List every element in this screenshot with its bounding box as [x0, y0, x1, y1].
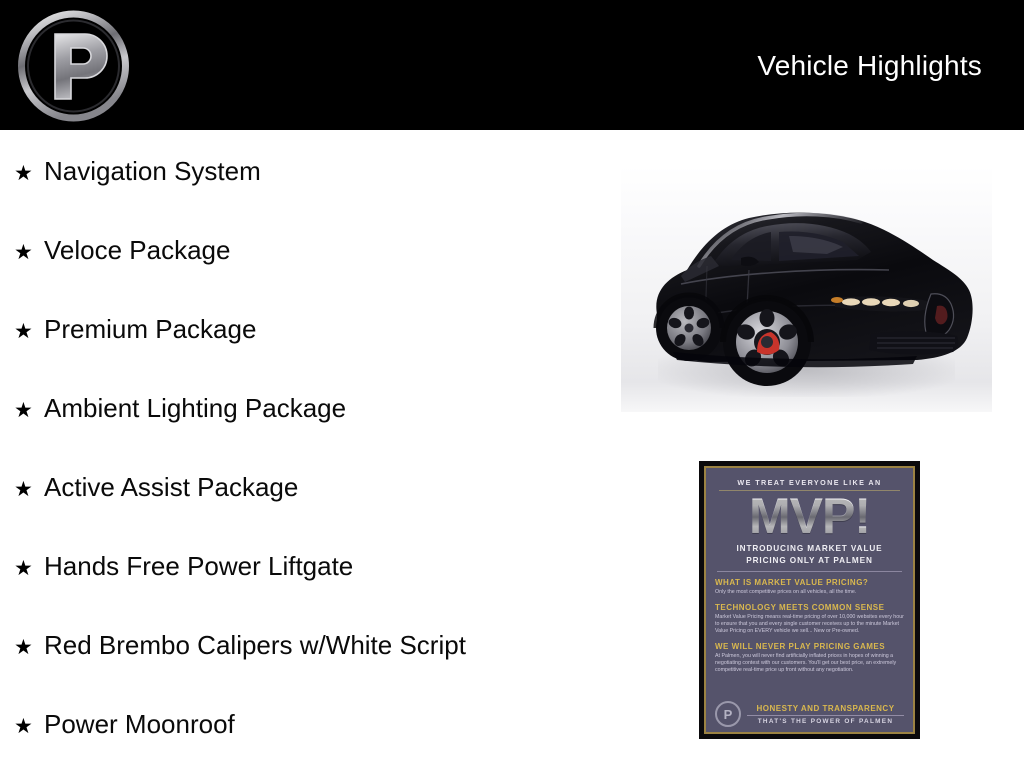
vehicle-highlights-list: ★ Navigation System ★ Veloce Package ★ P…: [0, 130, 600, 768]
star-bullet-icon: ★: [14, 321, 44, 342]
vehicle-photo: [621, 166, 992, 412]
star-bullet-icon: ★: [14, 479, 44, 500]
mvp-kicker: WE TREAT EVERYONE LIKE AN: [715, 478, 904, 487]
mvp-section-heading: TECHNOLOGY MEETS COMMON SENSE: [715, 603, 904, 612]
feature-label: Ambient Lighting Package: [44, 395, 346, 421]
mvp-subtitle-line2: PRICING ONLY AT PALMEN: [715, 555, 904, 566]
palmen-p-circle-logo: P: [715, 701, 741, 727]
star-bullet-icon: ★: [14, 163, 44, 184]
page-header: Vehicle Highlights: [0, 0, 1024, 130]
mvp-section-body: Market Value Pricing means real-time pri…: [715, 614, 904, 635]
feature-label: Red Brembo Calipers w/White Script: [44, 632, 466, 658]
mvp-footer-text: HONESTY AND TRANSPARENCY THAT'S THE POWE…: [747, 704, 904, 725]
mvp-section-heading: WE WILL NEVER PLAY PRICING GAMES: [715, 642, 904, 651]
feature-label: Power Moonroof: [44, 711, 235, 737]
mvp-divider-mid: [717, 571, 902, 572]
list-item: ★ Red Brembo Calipers w/White Script: [14, 632, 466, 658]
vehicle-illustration: [621, 166, 992, 412]
list-item: ★ Premium Package: [14, 316, 256, 342]
star-bullet-icon: ★: [14, 637, 44, 658]
feature-label: Premium Package: [44, 316, 256, 342]
mvp-subtitle-line1: INTRODUCING MARKET VALUE: [715, 543, 904, 554]
feature-label: Hands Free Power Liftgate: [44, 553, 353, 579]
mvp-footer-heading: HONESTY AND TRANSPARENCY: [747, 704, 904, 713]
mvp-section: TECHNOLOGY MEETS COMMON SENSE Market Val…: [715, 603, 904, 635]
vehicle-highlights-page: Vehicle Highlights ★ Navigation System ★…: [0, 0, 1024, 768]
star-bullet-icon: ★: [14, 558, 44, 579]
mvp-section: WE WILL NEVER PLAY PRICING GAMES At Palm…: [715, 642, 904, 674]
feature-label: Navigation System: [44, 158, 261, 184]
list-item: ★ Veloce Package: [14, 237, 230, 263]
list-item: ★ Active Assist Package: [14, 474, 298, 500]
mvp-wordmark: MVP!: [715, 490, 904, 542]
mvp-poster-inner: WE TREAT EVERYONE LIKE AN MVP! INTRODUCI…: [704, 466, 915, 734]
palmen-p-circle-logo: [13, 9, 134, 123]
mvp-section-heading: WHAT IS MARKET VALUE PRICING?: [715, 578, 904, 587]
feature-label: Veloce Package: [44, 237, 230, 263]
star-bullet-icon: ★: [14, 716, 44, 737]
page-title: Vehicle Highlights: [757, 50, 982, 82]
list-item: ★ Navigation System: [14, 158, 261, 184]
mvp-section-body: Only the most competitive prices on all …: [715, 589, 904, 596]
list-item: ★ Power Moonroof: [14, 711, 235, 737]
mvp-footer-divider: [747, 715, 904, 716]
feature-label: Active Assist Package: [44, 474, 298, 500]
mvp-section-body: At Palmen, you will never find artificia…: [715, 653, 904, 674]
star-bullet-icon: ★: [14, 242, 44, 263]
mvp-footer-tagline: THAT'S THE POWER OF PALMEN: [747, 718, 904, 725]
mvp-pricing-poster: WE TREAT EVERYONE LIKE AN MVP! INTRODUCI…: [699, 461, 920, 739]
mvp-divider-top: [719, 490, 900, 491]
list-item: ★ Ambient Lighting Package: [14, 395, 346, 421]
mvp-section: WHAT IS MARKET VALUE PRICING? Only the m…: [715, 578, 904, 596]
star-bullet-icon: ★: [14, 400, 44, 421]
list-item: ★ Hands Free Power Liftgate: [14, 553, 353, 579]
mvp-poster-footer: P HONESTY AND TRANSPARENCY THAT'S THE PO…: [715, 701, 904, 727]
